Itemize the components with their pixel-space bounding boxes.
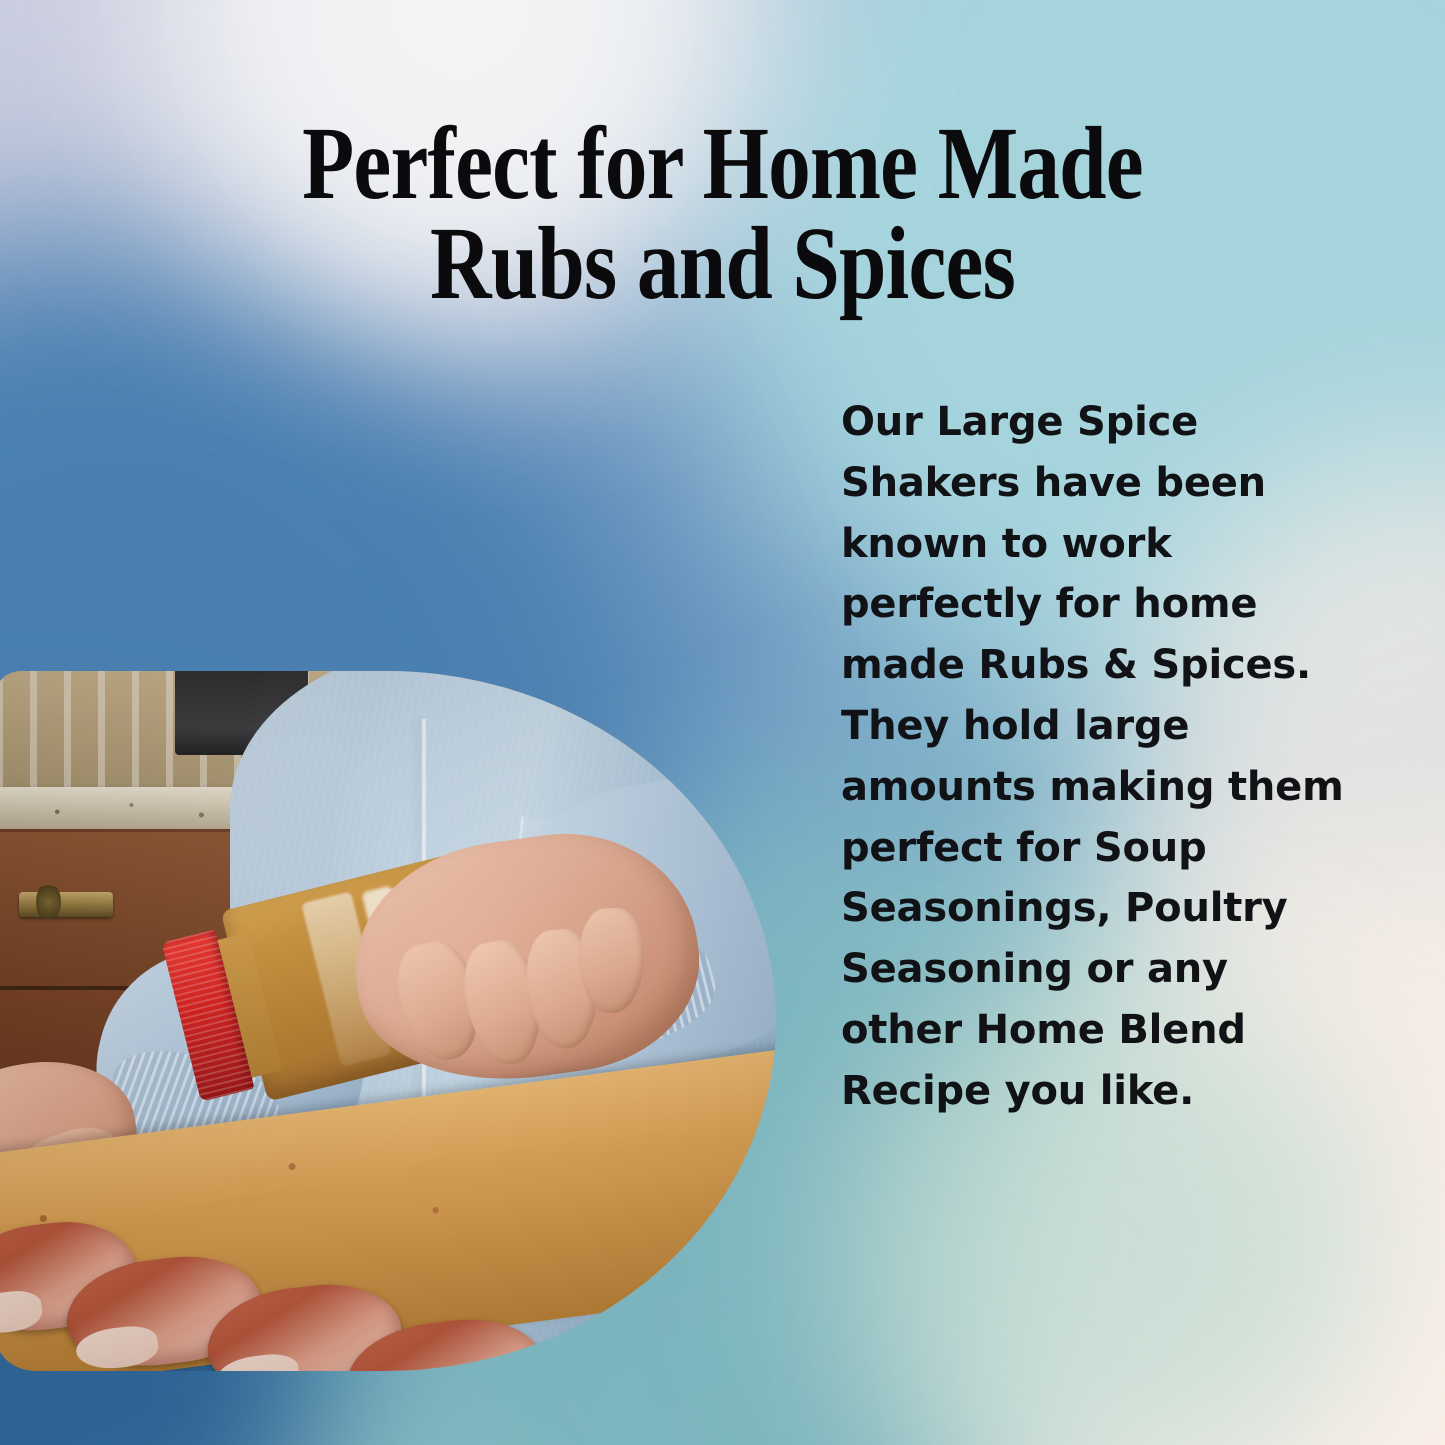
page-title: Perfect for Home Made Rubs and Spices [130, 114, 1315, 314]
description-text: Our Large Spice Shakers have been known … [841, 392, 1351, 1122]
product-photo-scene [0, 671, 776, 1371]
finger [579, 908, 644, 1013]
drawer-pull-handle [19, 892, 113, 917]
product-photo [0, 671, 776, 1371]
promo-canvas: Perfect for Home Made Rubs and Spices [0, 0, 1445, 1445]
